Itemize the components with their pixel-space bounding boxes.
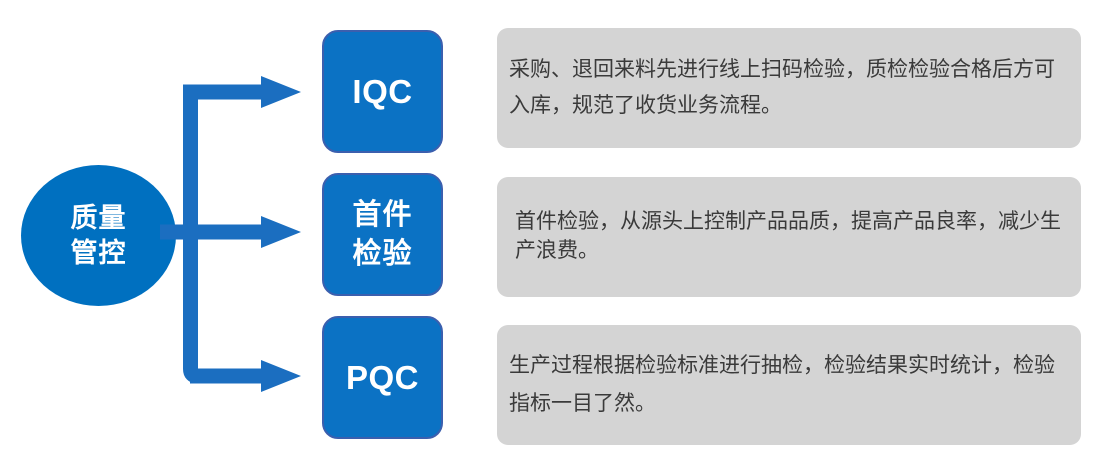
arrowhead-top — [261, 76, 301, 108]
description-text-iqc: 采购、退回来料先进行线上扫码检验，质检检验合格后方可入库，规范了收货业务流程。 — [497, 52, 1081, 124]
connector-trunk-lower — [191, 232, 198, 376]
connector-trunk-upper — [191, 92, 198, 232]
description-panel-pqc: 生产过程根据检验标准进行抽检，检验结果实时统计，检验指标一目了然。 — [497, 325, 1081, 445]
stage-box-first-article-inspection-label: 首件 检验 — [352, 196, 412, 273]
stage-box-iqc-label: IQC — [352, 73, 412, 111]
description-panel-first-article-inspection: 首件检验，从源头上控制产品品质，提高产品良率，减少生产浪费。 — [497, 177, 1081, 297]
root-node-label: 质量 管控 — [71, 201, 127, 270]
stage-box-first-article-inspection[interactable]: 首件 检验 — [322, 173, 443, 296]
description-panel-iqc: 采购、退回来料先进行线上扫码检验，质检检验合格后方可入库，规范了收货业务流程。 — [497, 28, 1081, 148]
stage-box-iqc[interactable]: IQC — [322, 30, 443, 153]
stage-box-pqc[interactable]: PQC — [322, 316, 443, 439]
root-node-quality-control[interactable]: 质量 管控 — [21, 165, 176, 306]
description-text-first-article-inspection: 首件检验，从源头上控制产品品质，提高产品良率，减少生产浪费。 — [497, 208, 1081, 266]
quality-control-diagram: 质量 管控 IQC 首件 检验 PQC 采购、退回来料先进行线上扫码检验，质检检… — [0, 0, 1109, 469]
arrowhead-bottom — [261, 360, 301, 392]
description-text-pqc: 生产过程根据检验标准进行抽检，检验结果实时统计，检验指标一目了然。 — [497, 347, 1081, 423]
arrowhead-middle — [261, 216, 301, 248]
stage-box-pqc-label: PQC — [346, 359, 419, 397]
